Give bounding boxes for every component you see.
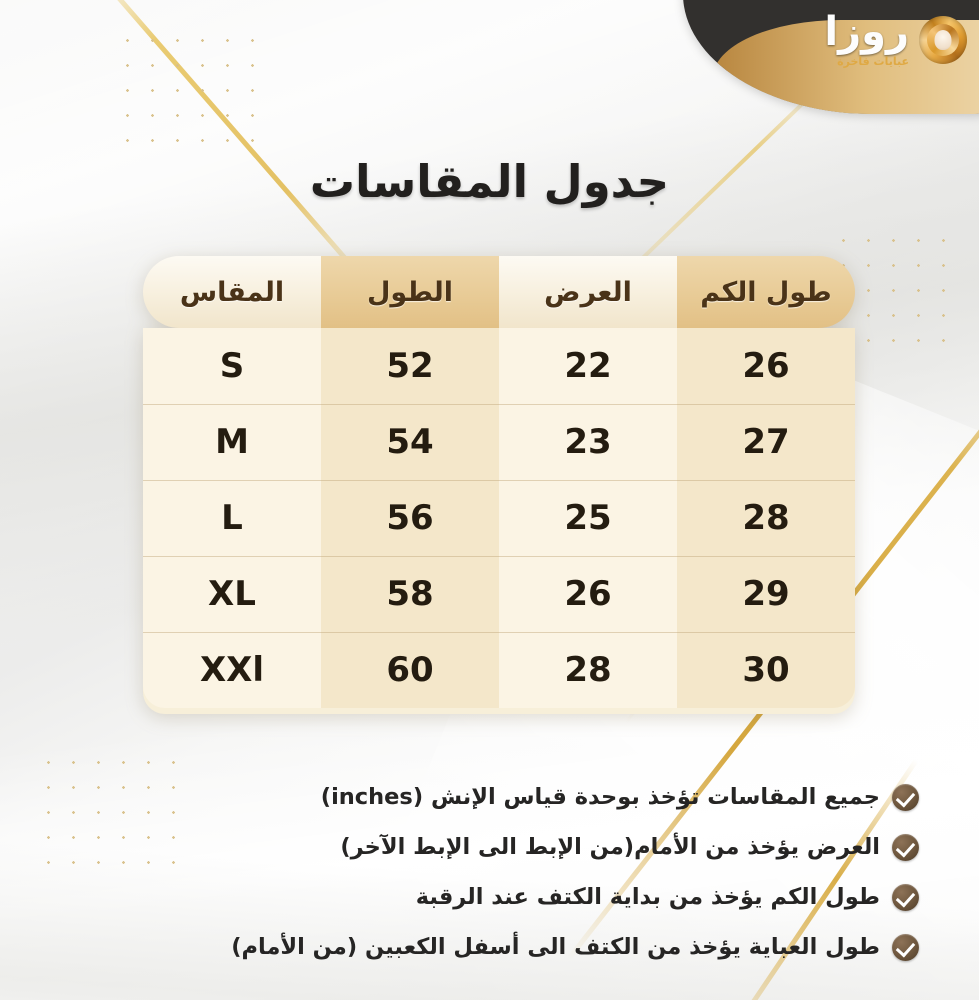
note-text: طول العباية يؤخذ من الكتف الى أسفل الكعب… — [231, 934, 880, 960]
column-header-sleeve-length: طول الكم — [677, 256, 855, 328]
brand-wordmark: روزا عبايات فاخرة — [824, 12, 909, 67]
cell-sleeve-length: 26 — [677, 328, 855, 404]
cell-size: XL — [143, 556, 321, 632]
column-header-length: الطول — [321, 256, 499, 328]
cell-length: 56 — [321, 480, 499, 556]
column-header-size: المقاس — [143, 256, 321, 328]
cell-sleeve-length: 28 — [677, 480, 855, 556]
cell-sleeve-length: 30 — [677, 632, 855, 708]
brand-tagline: عبايات فاخرة — [837, 56, 909, 67]
list-item: طول الكم يؤخذ من بداية الكتف عند الرقبة — [59, 872, 919, 922]
rose-swirl-icon — [919, 16, 967, 64]
list-item: العرض يؤخذ من الأمام(من الإبط الى الإبط … — [59, 822, 919, 872]
list-item: طول العباية يؤخذ من الكتف الى أسفل الكعب… — [59, 922, 919, 972]
brand-logo: روزا عبايات فاخرة — [824, 12, 967, 67]
dot-grid-top-left — [115, 28, 255, 148]
cell-sleeve-length: 27 — [677, 404, 855, 480]
cell-size: M — [143, 404, 321, 480]
size-table-header: طول الكم العرض الطول المقاس — [143, 256, 855, 328]
check-badge-icon — [892, 934, 919, 961]
size-chart-page: روزا عبايات فاخرة جدول المقاسات طول الكم… — [0, 0, 979, 1000]
brand-name: روزا — [824, 12, 909, 52]
list-item: جميع المقاسات تؤخذ بوحدة قياس الإنش (inc… — [59, 772, 919, 822]
cell-sleeve-length: 29 — [677, 556, 855, 632]
cell-length: 58 — [321, 556, 499, 632]
size-table-container: طول الكم العرض الطول المقاس 26 22 52 S 2… — [143, 256, 855, 708]
cell-size: XXl — [143, 632, 321, 708]
cell-width: 25 — [499, 480, 677, 556]
table-row: 27 23 54 M — [143, 404, 855, 480]
size-table-body: 26 22 52 S 27 23 54 M 28 25 56 L — [143, 328, 855, 708]
cell-length: 60 — [321, 632, 499, 708]
note-text: جميع المقاسات تؤخذ بوحدة قياس الإنش (inc… — [321, 784, 880, 810]
table-header-row: طول الكم العرض الطول المقاس — [143, 256, 855, 328]
check-badge-icon — [892, 834, 919, 861]
note-text: العرض يؤخذ من الأمام(من الإبط الى الإبط … — [340, 834, 880, 860]
brand-logo-panel: روزا عبايات فاخرة — [683, 0, 979, 114]
gold-diagonal-line-top-left — [93, 0, 372, 289]
cell-width: 23 — [499, 404, 677, 480]
cell-size: L — [143, 480, 321, 556]
table-row: 26 22 52 S — [143, 328, 855, 404]
size-table: طول الكم العرض الطول المقاس 26 22 52 S 2… — [143, 256, 855, 708]
page-title: جدول المقاسات — [0, 155, 979, 208]
cell-width: 22 — [499, 328, 677, 404]
cell-length: 54 — [321, 404, 499, 480]
cell-size: S — [143, 328, 321, 404]
table-row: 30 28 60 XXl — [143, 632, 855, 708]
measurement-notes-list: جميع المقاسات تؤخذ بوحدة قياس الإنش (inc… — [59, 772, 919, 972]
check-badge-icon — [892, 884, 919, 911]
table-row: 28 25 56 L — [143, 480, 855, 556]
cell-width: 26 — [499, 556, 677, 632]
table-row: 29 26 58 XL — [143, 556, 855, 632]
cell-length: 52 — [321, 328, 499, 404]
cell-width: 28 — [499, 632, 677, 708]
check-badge-icon — [892, 784, 919, 811]
column-header-width: العرض — [499, 256, 677, 328]
note-text: طول الكم يؤخذ من بداية الكتف عند الرقبة — [416, 884, 880, 910]
